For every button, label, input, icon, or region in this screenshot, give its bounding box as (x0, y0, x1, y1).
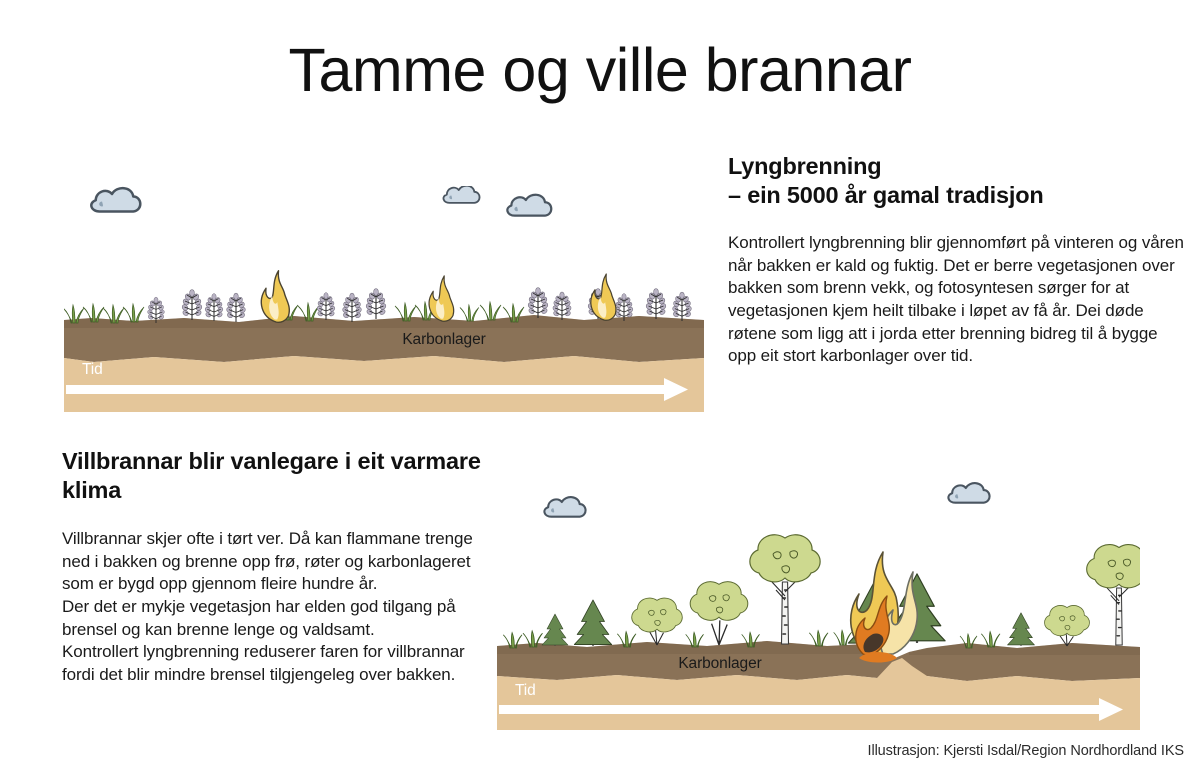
carbon-layer-label: Karbonlager (678, 655, 761, 672)
illustration-credit: Illustrasjon: Kjersti Isdal/Region Nordh… (868, 743, 1184, 759)
illustration-lyngbrenning: Karbonlager Tid (64, 186, 704, 412)
cloud-icon (443, 186, 479, 203)
time-axis-label: Tid (82, 361, 103, 378)
lyngbrenning-scene: Karbonlager Tid (64, 186, 704, 412)
page-title: Tamme og ville brannar (0, 38, 1200, 102)
lyngbrenning-text-block: Lyngbrenning – ein 5000 år gamal tradisj… (728, 152, 1188, 368)
illustration-villbrann: Karbonlager Tid (497, 482, 1140, 730)
infographic-page: Tamme og ville brannar Lyngbrenning – ei… (0, 0, 1200, 771)
villbrann-scene: Karbonlager Tid (497, 482, 1140, 730)
villbrannar-body: Villbrannar skjer ofte i tørt ver. Då ka… (62, 528, 482, 686)
carbon-layer-label: Karbonlager (402, 331, 485, 348)
villbrannar-heading: Villbrannar blir vanlegare i eit varmare… (62, 447, 482, 505)
villbrannar-text-block: Villbrannar blir vanlegare i eit varmare… (62, 447, 482, 687)
lyngbrenning-body: Kontrollert lyngbrenning blir gjennomfør… (728, 232, 1188, 368)
time-axis-label: Tid (515, 682, 536, 699)
subsoil-layer (64, 356, 704, 412)
lyngbrenning-heading: Lyngbrenning – ein 5000 år gamal tradisj… (728, 152, 1188, 210)
